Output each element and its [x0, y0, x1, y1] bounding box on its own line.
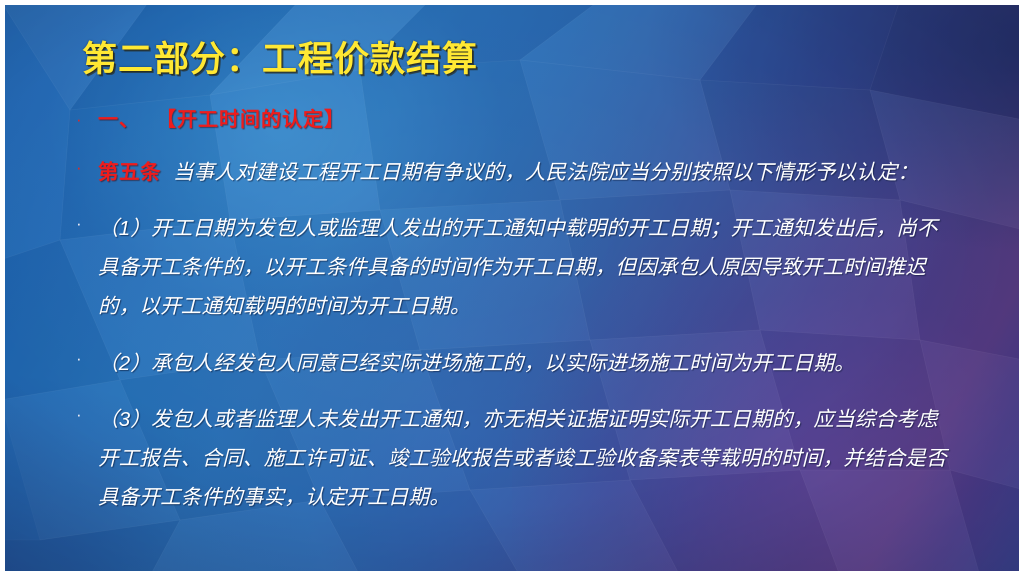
bullet-dot-icon: · — [76, 153, 98, 183]
paragraph-text: 第五条当事人对建设工程开工日期有争议的，人民法院应当分别按照以下情形予以认定： — [98, 153, 956, 192]
list-item-clause-2: · （2）承包人经发包人同意已经实际进场施工的，以实际进场施工时间为开工日期。 — [76, 344, 956, 383]
presentation-slide: 第二部分：工程价款结算 · 一、【开工时间的认定】 · 第五条当事人对建设工程开… — [0, 0, 1024, 576]
bullet-dot-icon: · — [76, 400, 98, 430]
list-item-heading: · 一、【开工时间的认定】 — [76, 105, 956, 135]
heading-text: 一、【开工时间的认定】 — [98, 105, 956, 135]
list-item-clause-3: · （3）发包人或者监理人未发出开工通知，亦无相关证据证明实际开工日期的，应当综… — [76, 400, 956, 517]
heading-number: 一、 — [98, 109, 140, 131]
paragraph-body: 当事人对建设工程开工日期有争议的，人民法院应当分别按照以下情形予以认定： — [173, 161, 918, 184]
list-item-clause-1: · （1）开工日期为发包人或监理人发出的开工通知中载明的开工日期；开工通知发出后… — [76, 209, 956, 326]
slide-content: 第二部分：工程价款结算 · 一、【开工时间的认定】 · 第五条当事人对建设工程开… — [0, 0, 1024, 576]
heading-label: 【开工时间的认定】 — [156, 109, 345, 131]
paragraph-body: （2）承包人经发包人同意已经实际进场施工的，以实际进场施工时间为开工日期。 — [98, 344, 956, 383]
paragraph-body: （3）发包人或者监理人未发出开工通知，亦无相关证据证明实际开工日期的，应当综合考… — [98, 400, 956, 517]
bullet-dot-icon: · — [76, 344, 98, 374]
bullet-dot-icon: · — [76, 209, 98, 239]
slide-body: · 一、【开工时间的认定】 · 第五条当事人对建设工程开工日期有争议的，人民法院… — [76, 103, 956, 517]
list-item-article-5: · 第五条当事人对建设工程开工日期有争议的，人民法院应当分别按照以下情形予以认定… — [76, 153, 956, 192]
slide-title: 第二部分：工程价款结算 — [82, 31, 478, 82]
article-label: 第五条 — [98, 161, 161, 184]
bullet-dot-icon: · — [76, 105, 98, 135]
paragraph-body: （1）开工日期为发包人或监理人发出的开工通知中载明的开工日期；开工通知发出后，尚… — [98, 209, 956, 326]
